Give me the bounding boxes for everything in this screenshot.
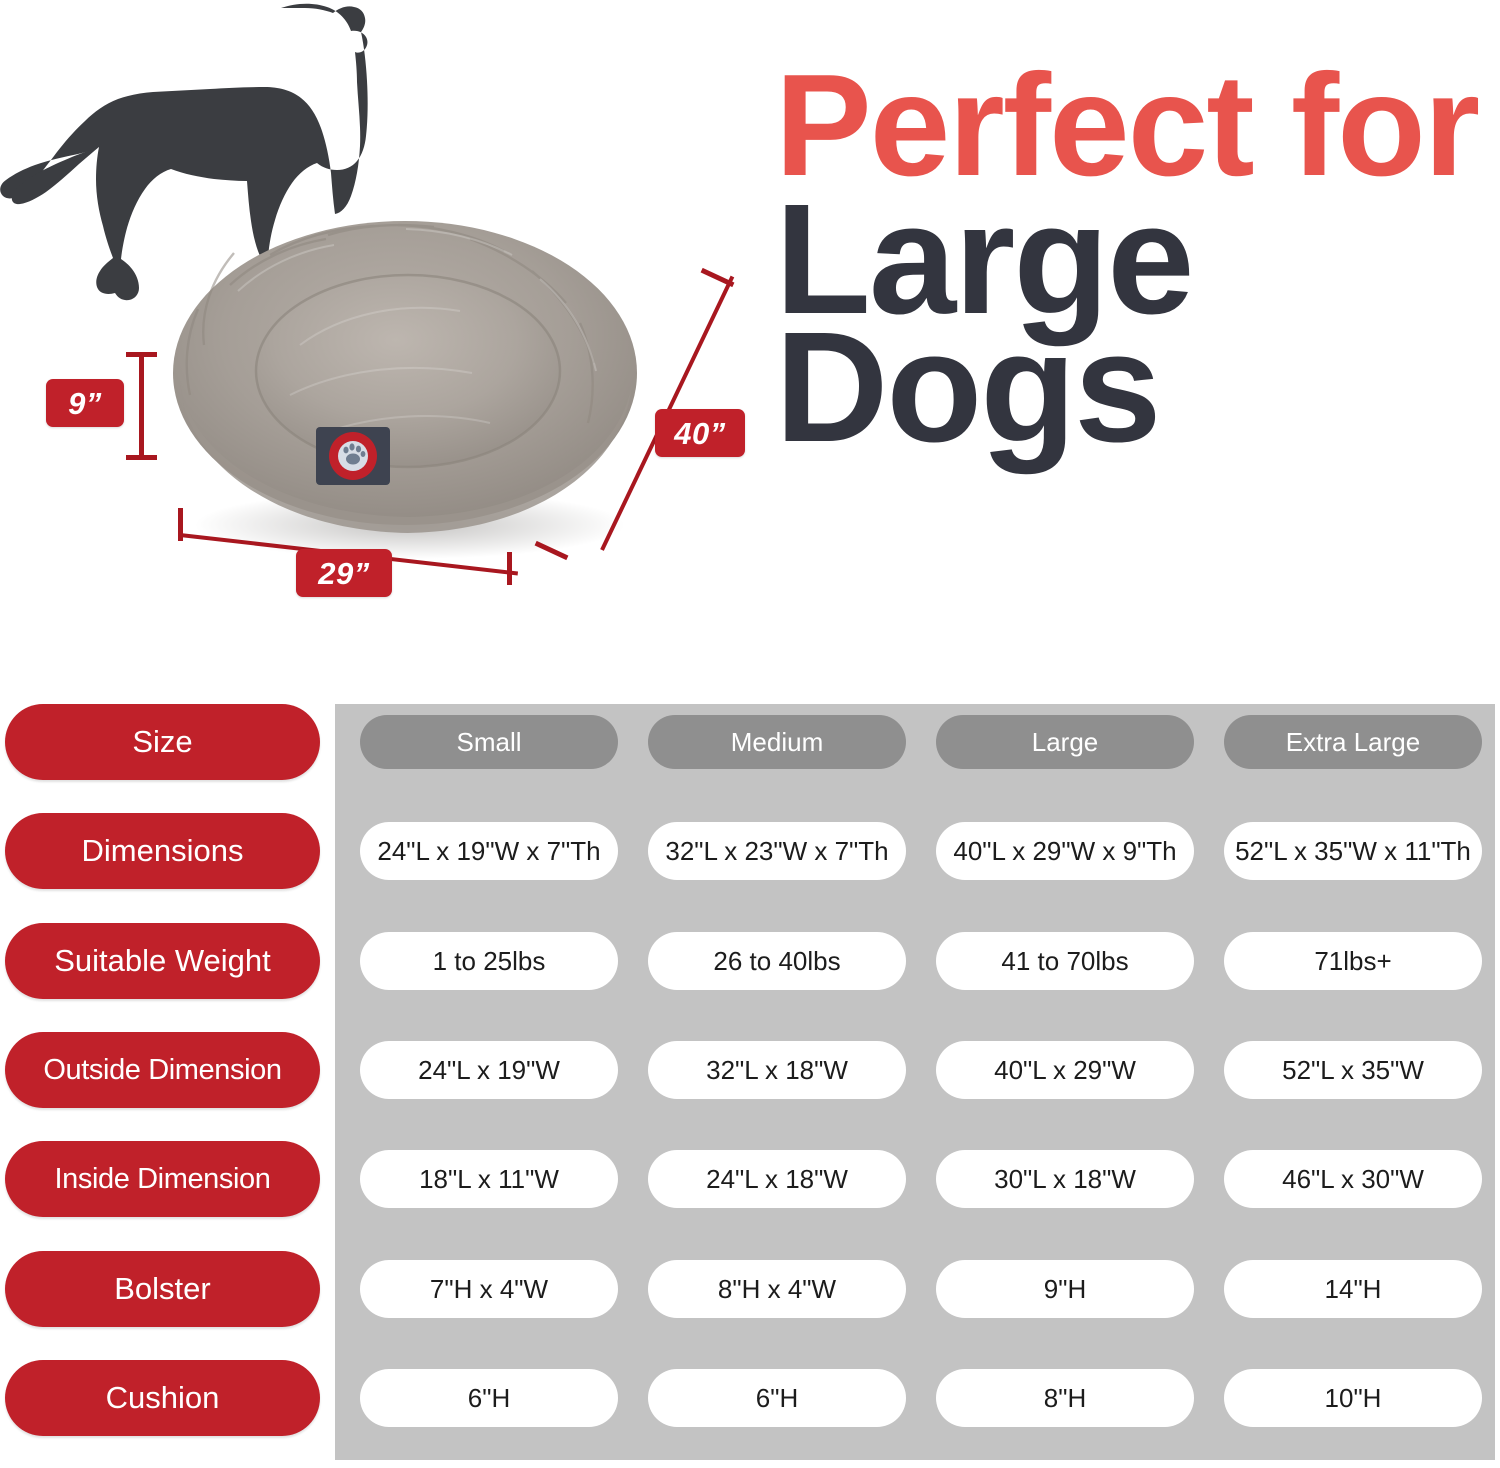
product-photo-dog-bed xyxy=(160,195,650,565)
table-cell: 24"L x 19"W xyxy=(360,1041,618,1099)
column-header-medium: Medium xyxy=(648,715,906,769)
column-header-extra-large: Extra Large xyxy=(1224,715,1482,769)
table-cell: 30"L x 18"W xyxy=(936,1150,1194,1208)
table-cell: 1 to 25lbs xyxy=(360,932,618,990)
row-label-column: Size Dimensions Suitable Weight Outside … xyxy=(5,704,320,1460)
table-cell: 41 to 70lbs xyxy=(936,932,1194,990)
table-cell: 40"L x 29"W x 9"Th xyxy=(936,822,1194,880)
column-header-large: Large xyxy=(936,715,1194,769)
table-cell: 18"L x 11"W xyxy=(360,1150,618,1208)
row-label-suitable-weight: Suitable Weight xyxy=(5,923,320,999)
table-cell: 32"L x 18"W xyxy=(648,1041,906,1099)
height-rule-cap-top xyxy=(126,352,157,357)
hero-section: 9” 29” 40” Perfect for Large Dogs xyxy=(0,0,1500,690)
headline-line-dogs: Dogs xyxy=(775,315,1485,461)
table-cell: 26 to 40lbs xyxy=(648,932,906,990)
row-label-dimensions: Dimensions xyxy=(5,813,320,889)
headline-block: Perfect for Large Dogs xyxy=(775,58,1485,461)
table-cell: 32"L x 23"W x 7"Th xyxy=(648,822,906,880)
height-rule-vertical xyxy=(139,352,144,460)
callout-width-29in: 29” xyxy=(296,549,392,597)
table-cell: 6"H xyxy=(360,1369,618,1427)
row-label-bolster: Bolster xyxy=(5,1251,320,1327)
table-cell: 9"H xyxy=(936,1260,1194,1318)
table-cell: 6"H xyxy=(648,1369,906,1427)
table-cell: 24"L x 18"W xyxy=(648,1150,906,1208)
table-cell: 8"H x 4"W xyxy=(648,1260,906,1318)
table-cell: 46"L x 30"W xyxy=(1224,1150,1482,1208)
table-cell: 24"L x 19"W x 7"Th xyxy=(360,822,618,880)
row-label-size: Size xyxy=(5,704,320,780)
table-cell: 52"L x 35"W x 11"Th xyxy=(1224,822,1482,880)
table-cell: 7"H x 4"W xyxy=(360,1260,618,1318)
width-rule-cap-left xyxy=(178,508,183,541)
table-cell: 8"H xyxy=(936,1369,1194,1427)
callout-length-40in: 40” xyxy=(655,409,745,457)
specification-table: Size Dimensions Suitable Weight Outside … xyxy=(0,690,1500,1468)
callout-height-9in: 9” xyxy=(46,379,124,427)
row-label-cushion: Cushion xyxy=(5,1360,320,1436)
table-cell: 10"H xyxy=(1224,1369,1482,1427)
row-label-outside-dimension: Outside Dimension xyxy=(5,1032,320,1108)
cell-grid: Small Medium Large Extra Large 24"L x 19… xyxy=(350,704,1480,1460)
table-cell: 52"L x 35"W xyxy=(1224,1041,1482,1099)
height-rule-cap-bottom xyxy=(126,455,157,460)
table-cell: 71lbs+ xyxy=(1224,932,1482,990)
table-cell: 14"H xyxy=(1224,1260,1482,1318)
table-cell: 40"L x 29"W xyxy=(936,1041,1194,1099)
width-rule-cap-right xyxy=(507,552,512,585)
row-label-inside-dimension: Inside Dimension xyxy=(5,1141,320,1217)
column-header-small: Small xyxy=(360,715,618,769)
brand-tag-icon xyxy=(316,427,390,485)
